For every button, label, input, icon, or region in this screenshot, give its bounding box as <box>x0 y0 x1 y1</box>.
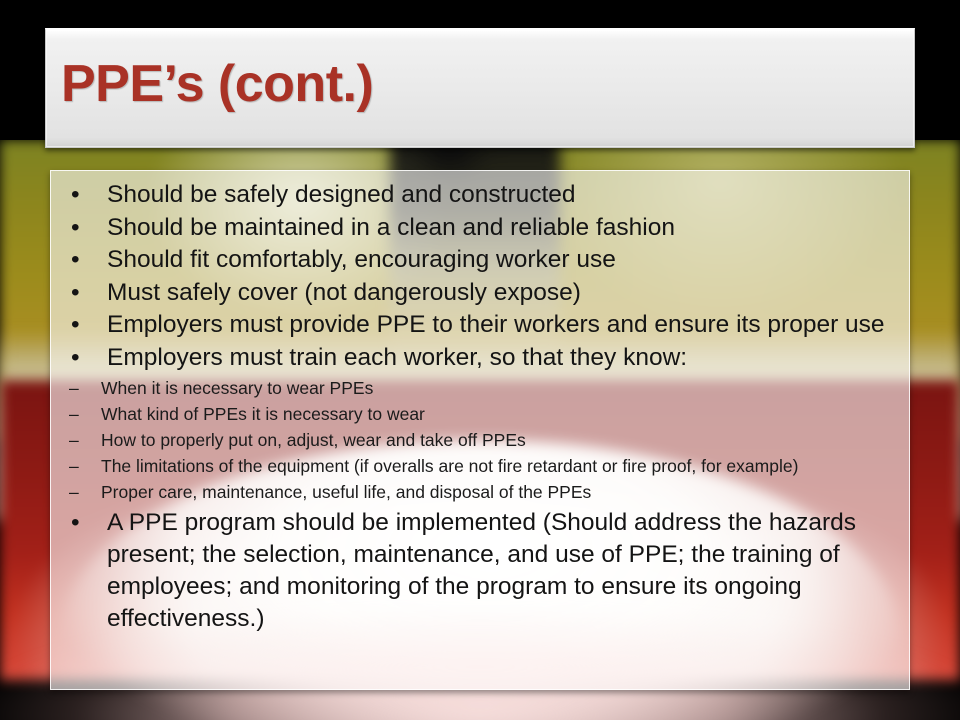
list-item: • Employers must train each worker, so t… <box>61 342 895 374</box>
list-item-label: A PPE program should be implemented (Sho… <box>107 509 856 632</box>
list-item-label: Must safely cover (not dangerously expos… <box>107 279 581 306</box>
bullet-list: • Should be safely designed and construc… <box>61 179 895 635</box>
sub-bullet-list: – When it is necessary to wear PPEs – Wh… <box>61 375 895 505</box>
sub-list-item-label: Proper care, maintenance, useful life, a… <box>101 482 591 502</box>
sub-list-container: – When it is necessary to wear PPEs – Wh… <box>61 375 895 505</box>
content-plate: • Should be safely designed and construc… <box>50 170 910 690</box>
dash-marker-icon: – <box>69 479 79 505</box>
bullet-marker-icon: • <box>71 179 80 211</box>
sub-list-item: – The limitations of the equipment (if o… <box>61 453 895 479</box>
list-item-label: Should be safely designed and constructe… <box>107 181 576 208</box>
sub-list-item: – Proper care, maintenance, useful life,… <box>61 479 895 505</box>
dash-marker-icon: – <box>69 427 79 453</box>
bullet-marker-icon: • <box>71 212 80 244</box>
dash-marker-icon: – <box>69 401 79 427</box>
title-plate: PPE’s (cont.) <box>45 28 915 148</box>
list-item-label: Employers must train each worker, so tha… <box>107 344 687 371</box>
sub-list-item: – What kind of PPEs it is necessary to w… <box>61 401 895 427</box>
dash-marker-icon: – <box>69 453 79 479</box>
bullet-marker-icon: • <box>71 244 80 276</box>
bullet-marker-icon: • <box>71 309 80 341</box>
sub-list-item-label: What kind of PPEs it is necessary to wea… <box>101 404 425 424</box>
bullet-marker-icon: • <box>71 507 80 539</box>
dash-marker-icon: – <box>69 375 79 401</box>
sub-list-item-label: When it is necessary to wear PPEs <box>101 378 373 398</box>
list-item: • Should fit comfortably, encouraging wo… <box>61 244 895 276</box>
sub-list-item: – When it is necessary to wear PPEs <box>61 375 895 401</box>
bullet-marker-icon: • <box>71 277 80 309</box>
slide: PPE’s (cont.) • Should be safely designe… <box>0 0 960 720</box>
list-item: • Must safely cover (not dangerously exp… <box>61 277 895 309</box>
bullet-marker-icon: • <box>71 342 80 374</box>
sub-list-item-label: The limitations of the equipment (if ove… <box>101 456 798 476</box>
list-item-label: Employers must provide PPE to their work… <box>107 311 885 338</box>
sub-list-item-label: How to properly put on, adjust, wear and… <box>101 430 526 450</box>
list-item-label: Should fit comfortably, encouraging work… <box>107 246 616 273</box>
list-item: • Employers must provide PPE to their wo… <box>61 309 895 341</box>
list-item: • Should be maintained in a clean and re… <box>61 212 895 244</box>
list-item: • Should be safely designed and construc… <box>61 179 895 211</box>
page-title: PPE’s (cont.) <box>61 54 373 114</box>
list-item: • A PPE program should be implemented (S… <box>61 507 895 635</box>
list-item-label: Should be maintained in a clean and reli… <box>107 214 675 241</box>
sub-list-item: – How to properly put on, adjust, wear a… <box>61 427 895 453</box>
